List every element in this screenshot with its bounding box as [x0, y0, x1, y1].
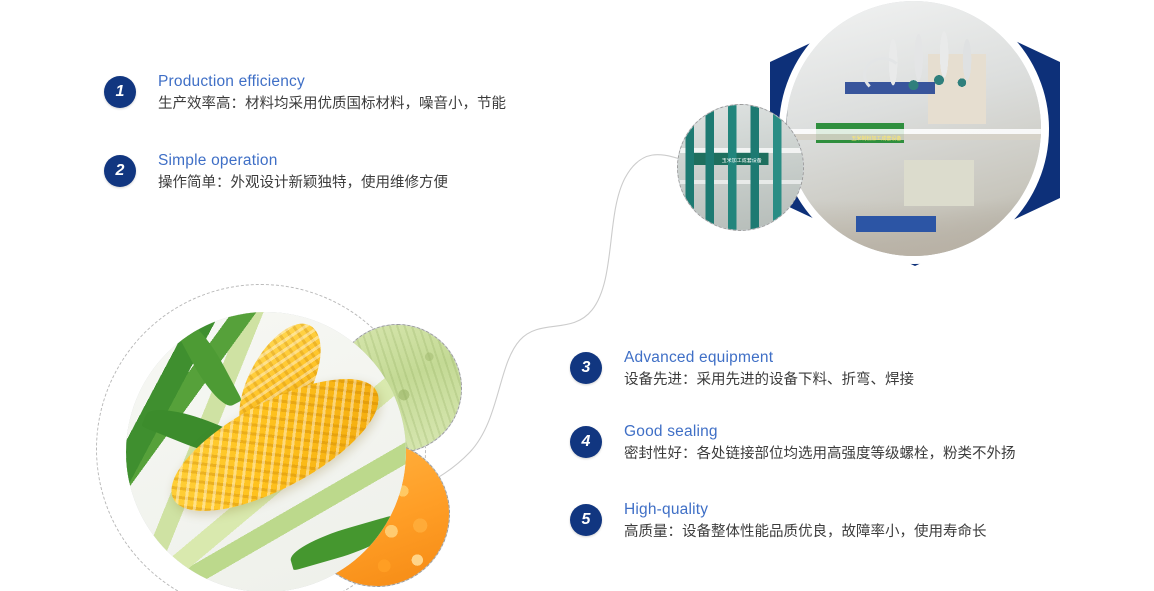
feature-text-3: Advanced equipment 设备先进：采用先进的设备下料、折弯、焊接 — [624, 348, 914, 391]
feature-title-en-5: High-quality — [624, 500, 987, 519]
feature-title-cn-2: 操作简单：外观设计新颖独特，使用维修方便 — [158, 172, 448, 194]
mill-plant-photo-image: 玉米制粉加工成套设备 — [786, 1, 1041, 256]
feature-badge-3: 3 — [570, 352, 602, 384]
feature-text-4: Good sealing 密封性好：各处链接部位均选用高强度等级螺栓，粉类不外扬 — [624, 422, 1016, 465]
feature-text-1: Production efficiency 生产效率高：材料均采用优质国标材料，… — [158, 72, 506, 115]
mill-plant-photo: 玉米制粉加工成套设备 — [786, 1, 1041, 256]
feature-title-cn-3: 设备先进：采用先进的设备下料、折弯、焊接 — [624, 369, 914, 391]
feature-item-1[interactable]: 1 Production efficiency 生产效率高：材料均采用优质国标材… — [104, 76, 506, 115]
feature-title-cn-5: 高质量：设备整体性能品质优良，故障率小，使用寿命长 — [624, 521, 987, 543]
feature-item-2[interactable]: 2 Simple operation 操作简单：外观设计新颖独特，使用维修方便 — [104, 155, 448, 194]
feature-title-en-1: Production efficiency — [158, 72, 506, 91]
feature-item-3[interactable]: 3 Advanced equipment 设备先进：采用先进的设备下料、折弯、焊… — [570, 352, 914, 391]
feature-title-en-3: Advanced equipment — [624, 348, 914, 367]
mill-banner-text: 玉米制粉加工成套设备 — [834, 135, 918, 151]
feature-title-cn-1: 生产效率高：材料均采用优质国标材料，噪音小，节能 — [158, 93, 506, 115]
green-machine-photo-image: 玉米加工成套设备 — [678, 105, 803, 230]
feature-title-en-2: Simple operation — [158, 151, 448, 170]
green-machine-banner-text: 玉米加工成套设备 — [702, 158, 782, 169]
green-machine-photo: 玉米加工成套设备 — [677, 104, 804, 231]
feature-text-2: Simple operation 操作简单：外观设计新颖独特，使用维修方便 — [158, 151, 448, 194]
feature-badge-1: 1 — [104, 76, 136, 108]
corn-photo-overlay-image — [126, 312, 406, 591]
feature-item-5[interactable]: 5 High-quality 高质量：设备整体性能品质优良，故障率小，使用寿命长 — [570, 504, 987, 543]
feature-badge-2: 2 — [104, 155, 136, 187]
feature-title-cn-4: 密封性好：各处链接部位均选用高强度等级螺栓，粉类不外扬 — [624, 443, 1016, 465]
feature-badge-5: 5 — [570, 504, 602, 536]
infographic-canvas: 玉米制粉加工成套设备 玉米加工成套设备 — [0, 0, 1154, 591]
feature-badge-4: 4 — [570, 426, 602, 458]
feature-item-4[interactable]: 4 Good sealing 密封性好：各处链接部位均选用高强度等级螺栓，粉类不… — [570, 426, 1016, 465]
feature-text-5: High-quality 高质量：设备整体性能品质优良，故障率小，使用寿命长 — [624, 500, 987, 543]
feature-title-en-4: Good sealing — [624, 422, 1016, 441]
corn-photo-overlay — [126, 312, 406, 591]
